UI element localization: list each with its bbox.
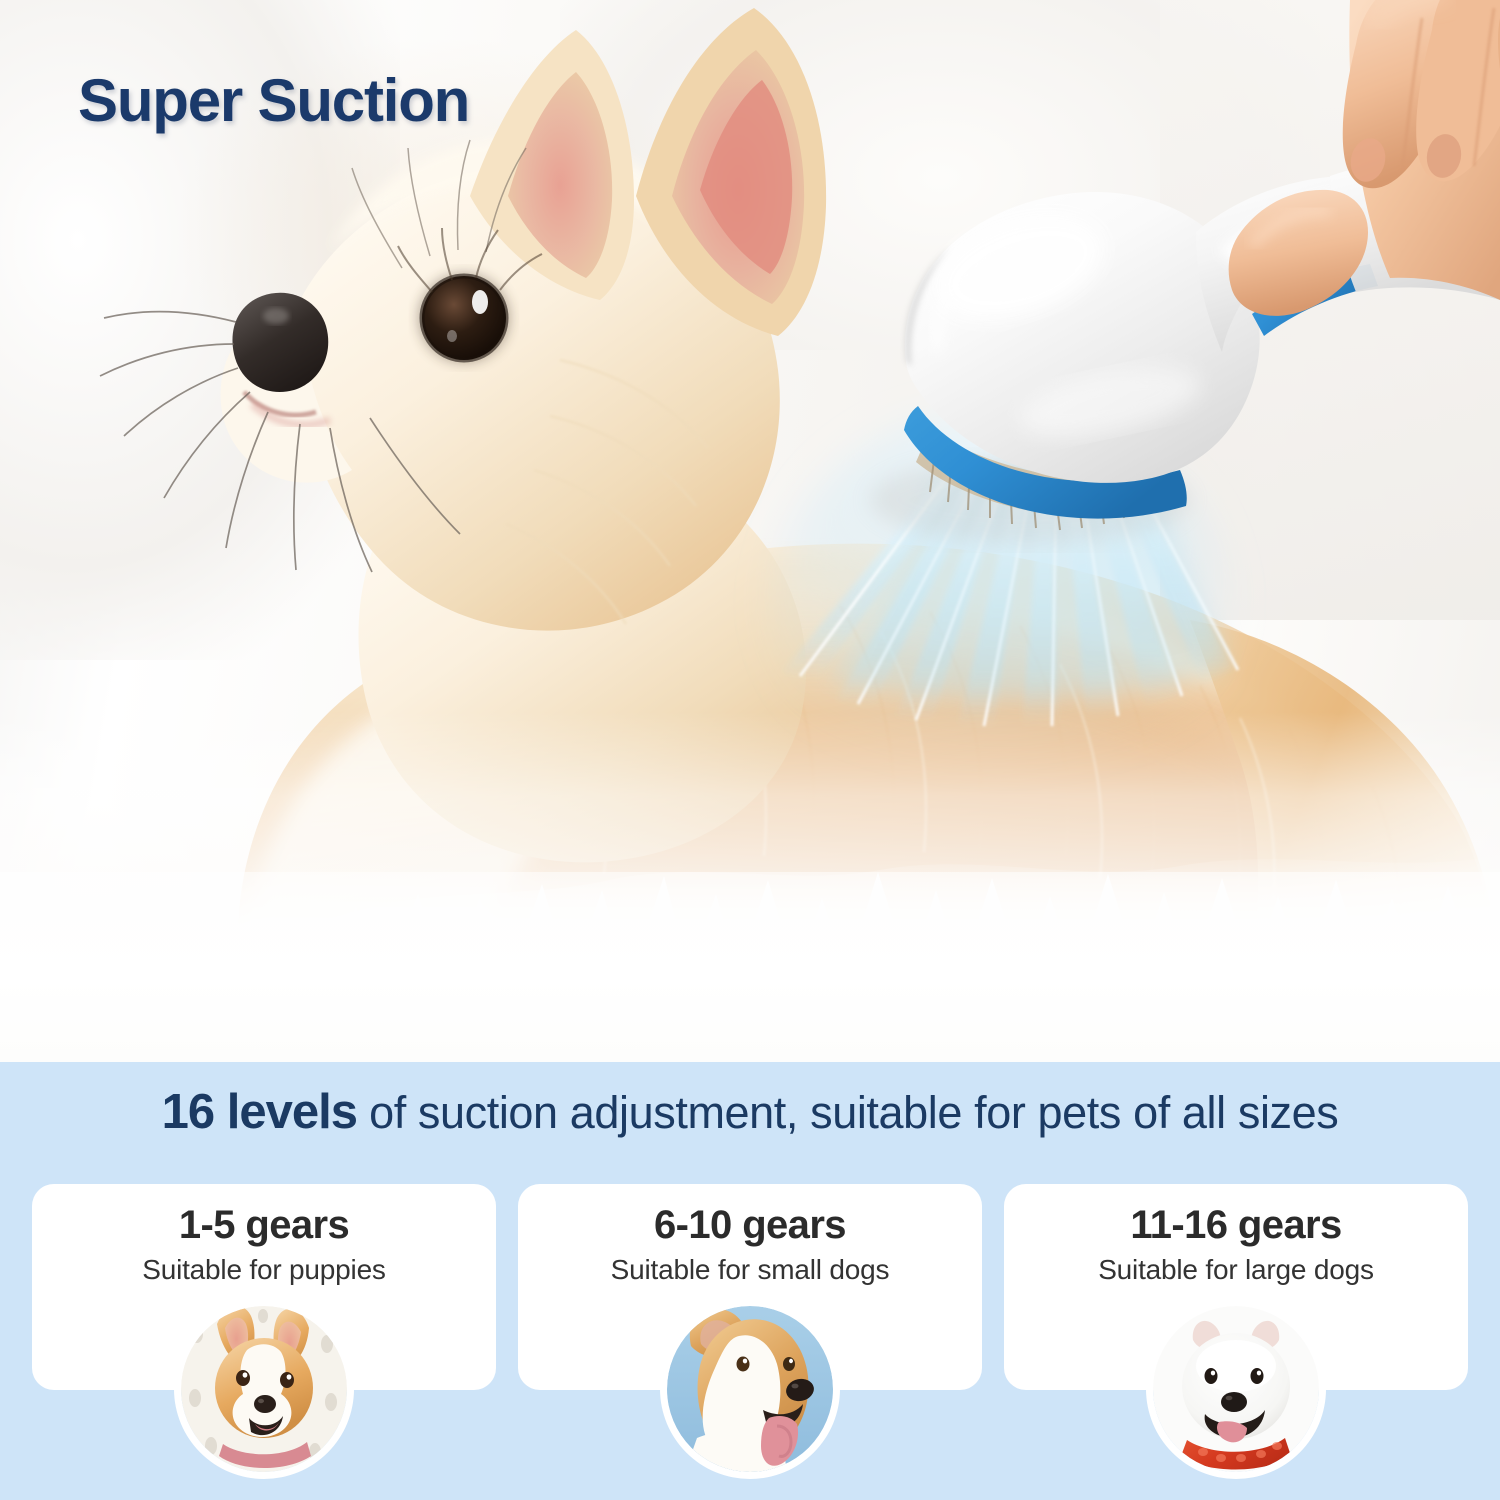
panel-headline: 16 levels of suction adjustment, suitabl…: [0, 1086, 1500, 1140]
hero-photo: Super Suction: [0, 0, 1500, 1062]
product-feature-image: Super Suction 16 levels of suction adjus…: [0, 0, 1500, 1500]
headline-rest: of suction adjustment, suitable for pets…: [357, 1087, 1338, 1138]
gear-card-6-10[interactable]: 6-10 gears Suitable for small dogs: [518, 1184, 982, 1390]
corgi-dog-photo: [667, 1306, 833, 1472]
corgi-puppy-photo: [181, 1306, 347, 1472]
gear-card-subtitle: Suitable for small dogs: [518, 1254, 982, 1286]
dog-eye: [418, 273, 510, 363]
gear-cards-row: 1-5 gears Suitable for puppies: [32, 1184, 1468, 1390]
page-title: Super Suction: [78, 66, 469, 135]
gear-card-title: 6-10 gears: [518, 1202, 982, 1248]
hand-fingers: [1343, 0, 1500, 188]
gear-card-11-16[interactable]: 11-16 gears Suitable for large dogs: [1004, 1184, 1468, 1390]
dog-nose: [232, 293, 328, 392]
gear-card-title: 11-16 gears: [1004, 1202, 1468, 1248]
blanket-base-fade: [0, 872, 1500, 1062]
samoyed-dog-photo: [1153, 1306, 1319, 1472]
suction-levels-panel: 16 levels of suction adjustment, suitabl…: [0, 1062, 1500, 1500]
gear-card-title: 1-5 gears: [32, 1202, 496, 1248]
headline-strong: 16 levels: [162, 1085, 357, 1139]
gear-card-1-5[interactable]: 1-5 gears Suitable for puppies: [32, 1184, 496, 1390]
gear-card-subtitle: Suitable for puppies: [32, 1254, 496, 1286]
gear-card-subtitle: Suitable for large dogs: [1004, 1254, 1468, 1286]
